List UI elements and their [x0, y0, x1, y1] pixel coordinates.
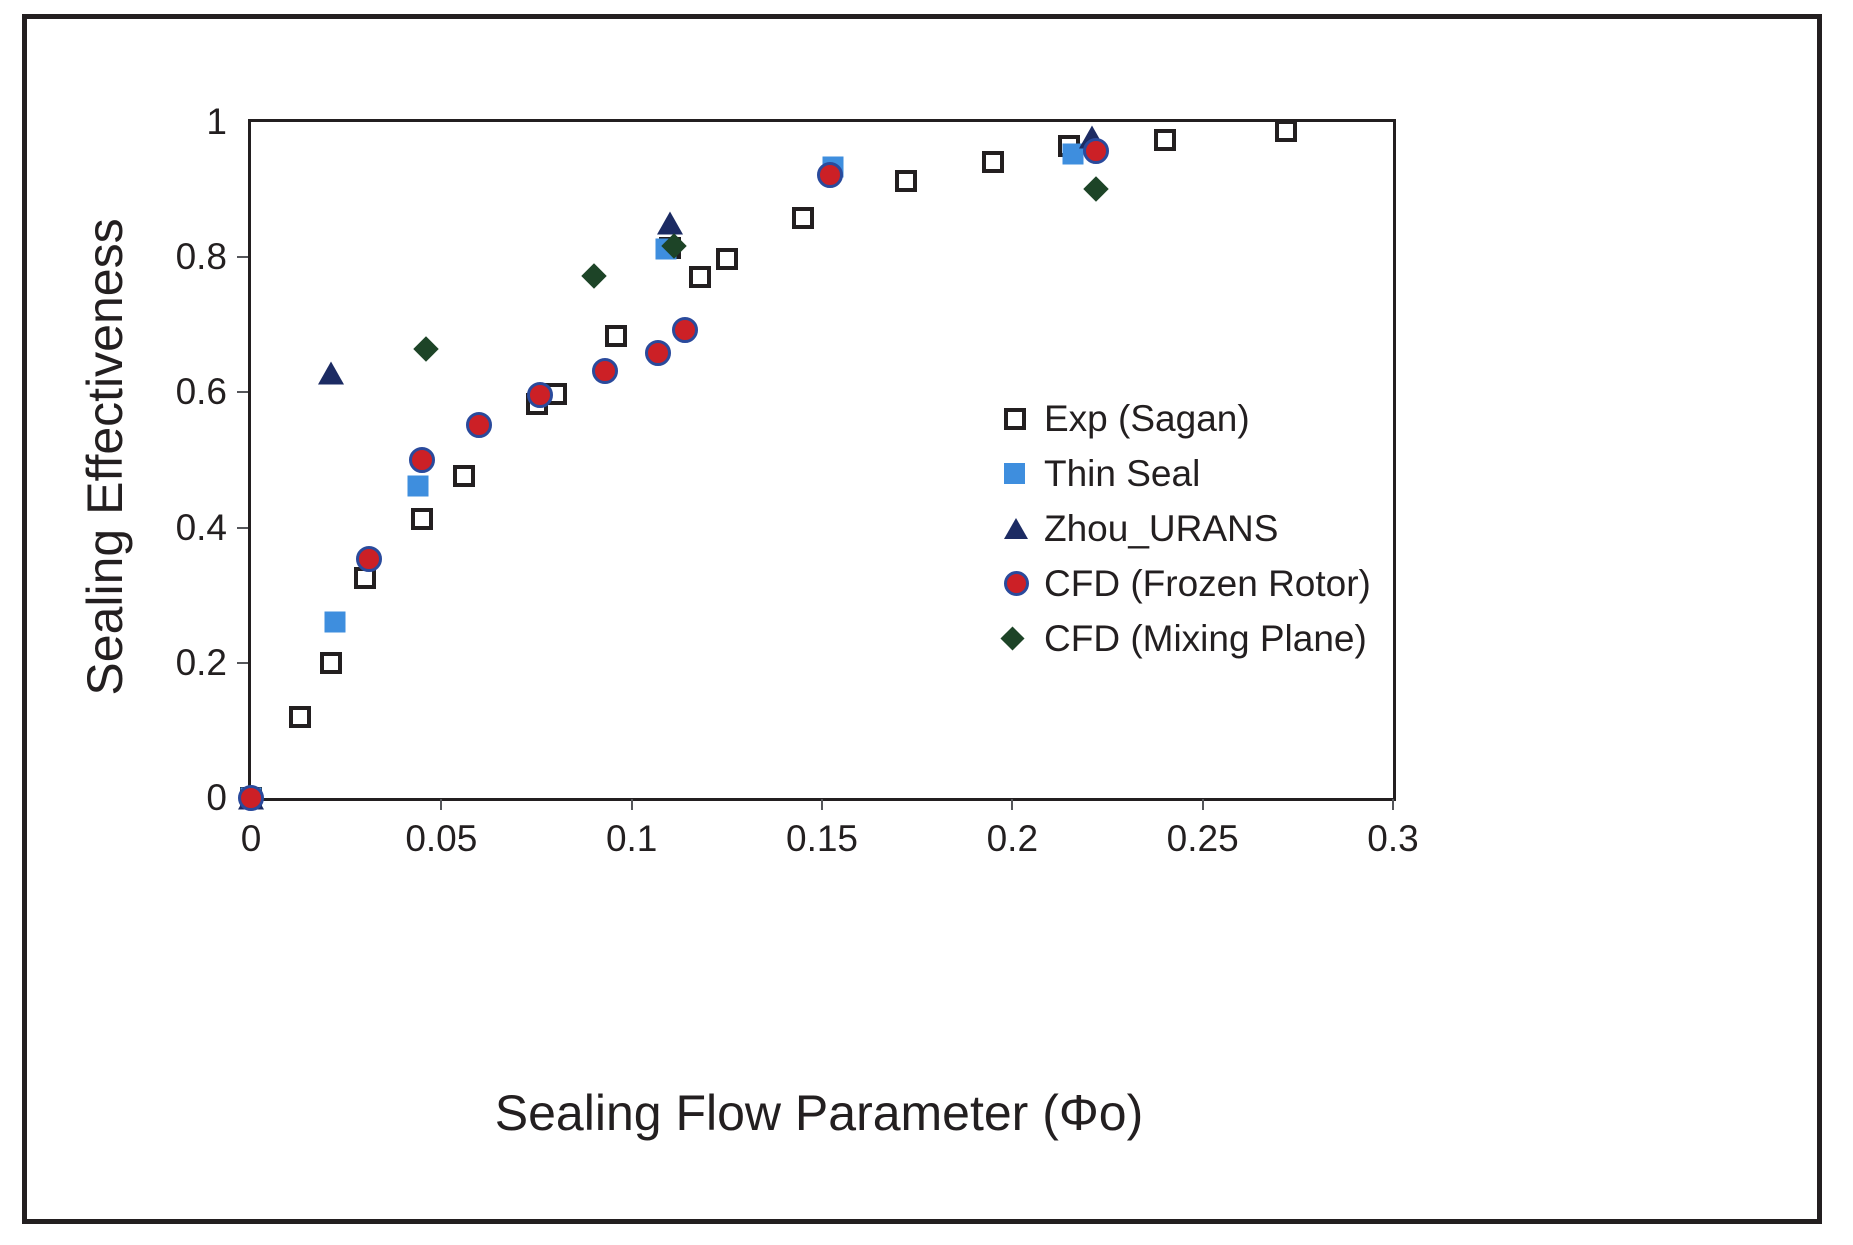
data-point — [792, 207, 814, 229]
x-axis-tick — [1202, 799, 1204, 810]
data-point — [289, 706, 311, 728]
data-point — [689, 266, 711, 288]
data-point — [411, 508, 433, 530]
data-point — [982, 151, 1004, 173]
filled-triangle-icon — [1004, 518, 1038, 539]
filled-square-icon — [1004, 463, 1038, 484]
legend-label: Thin Seal — [1044, 453, 1200, 495]
legend-label: Zhou_URANS — [1044, 508, 1278, 550]
x-axis-tick — [821, 799, 823, 810]
data-point — [320, 652, 342, 674]
data-point — [657, 211, 683, 234]
x-axis-tick-label: 0.05 — [405, 818, 477, 860]
legend-label: CFD (Frozen Rotor) — [1044, 563, 1371, 605]
legend-label: CFD (Mixing Plane) — [1044, 618, 1367, 660]
data-point — [324, 612, 345, 633]
legend-label: Exp (Sagan) — [1044, 398, 1250, 440]
x-axis-tick-label: 0.25 — [1167, 818, 1239, 860]
data-point — [581, 263, 606, 288]
x-axis-tick-label: 0.15 — [786, 818, 858, 860]
x-axis-tick-label: 0.1 — [606, 818, 657, 860]
chart-legend: Exp (Sagan) Thin Seal Zhou_URANS CFD (Fr… — [1004, 391, 1334, 666]
data-point — [716, 248, 738, 270]
x-axis-tick-label: 0.2 — [987, 818, 1038, 860]
data-point — [413, 336, 438, 361]
x-axis-tick-label: 0.3 — [1367, 818, 1418, 860]
data-point — [527, 382, 553, 408]
y-axis-tick — [237, 527, 248, 529]
data-point — [466, 412, 492, 438]
x-axis-tick — [440, 799, 442, 810]
data-point — [408, 476, 429, 497]
data-point — [895, 170, 917, 192]
data-point — [1083, 176, 1108, 201]
data-point — [453, 465, 475, 487]
data-point — [592, 358, 618, 384]
x-axis-title: Sealing Flow Parameter (Φo) — [495, 1084, 1143, 1142]
figure-canvas: Sealing Effectiveness Sealing Flow Param… — [27, 19, 1817, 1219]
legend-item-exp-sagan[interactable]: Exp (Sagan) — [1004, 391, 1334, 446]
y-axis-tick — [237, 256, 248, 258]
legend-item-cfd-mixing-plane[interactable]: CFD (Mixing Plane) — [1004, 611, 1334, 666]
filled-diamond-icon — [1004, 630, 1038, 647]
filled-circle-icon — [1004, 571, 1038, 596]
y-axis-tick — [237, 391, 248, 393]
y-axis-tick-label: 0 — [206, 777, 227, 819]
x-axis-tick — [1011, 799, 1013, 810]
data-point — [605, 325, 627, 347]
data-point — [356, 546, 382, 572]
x-axis-tick — [631, 799, 633, 810]
data-point — [1154, 129, 1176, 151]
data-point — [238, 785, 264, 811]
x-axis-tick — [1392, 799, 1394, 810]
data-point — [1275, 120, 1297, 142]
legend-item-thin-seal[interactable]: Thin Seal — [1004, 446, 1334, 501]
legend-item-zhou-urans[interactable]: Zhou_URANS — [1004, 501, 1334, 556]
legend-item-cfd-frozen-rotor[interactable]: CFD (Frozen Rotor) — [1004, 556, 1334, 611]
y-axis-tick-label: 0.8 — [176, 236, 227, 278]
y-axis-title: Sealing Effectiveness — [76, 218, 134, 695]
data-point — [1083, 138, 1109, 164]
data-point — [645, 340, 671, 366]
data-point — [409, 447, 435, 473]
y-axis-tick-label: 1 — [206, 101, 227, 143]
y-axis-tick-label: 0.4 — [176, 507, 227, 549]
y-axis-tick-label: 0.2 — [176, 642, 227, 684]
data-point — [817, 162, 843, 188]
y-axis-tick-label: 0.6 — [176, 371, 227, 413]
open-square-icon — [1004, 408, 1038, 430]
data-point — [318, 362, 344, 385]
y-axis-tick — [237, 662, 248, 664]
data-point — [672, 317, 698, 343]
x-axis-tick-label: 0 — [241, 818, 262, 860]
figure-frame: Sealing Effectiveness Sealing Flow Param… — [22, 14, 1822, 1224]
